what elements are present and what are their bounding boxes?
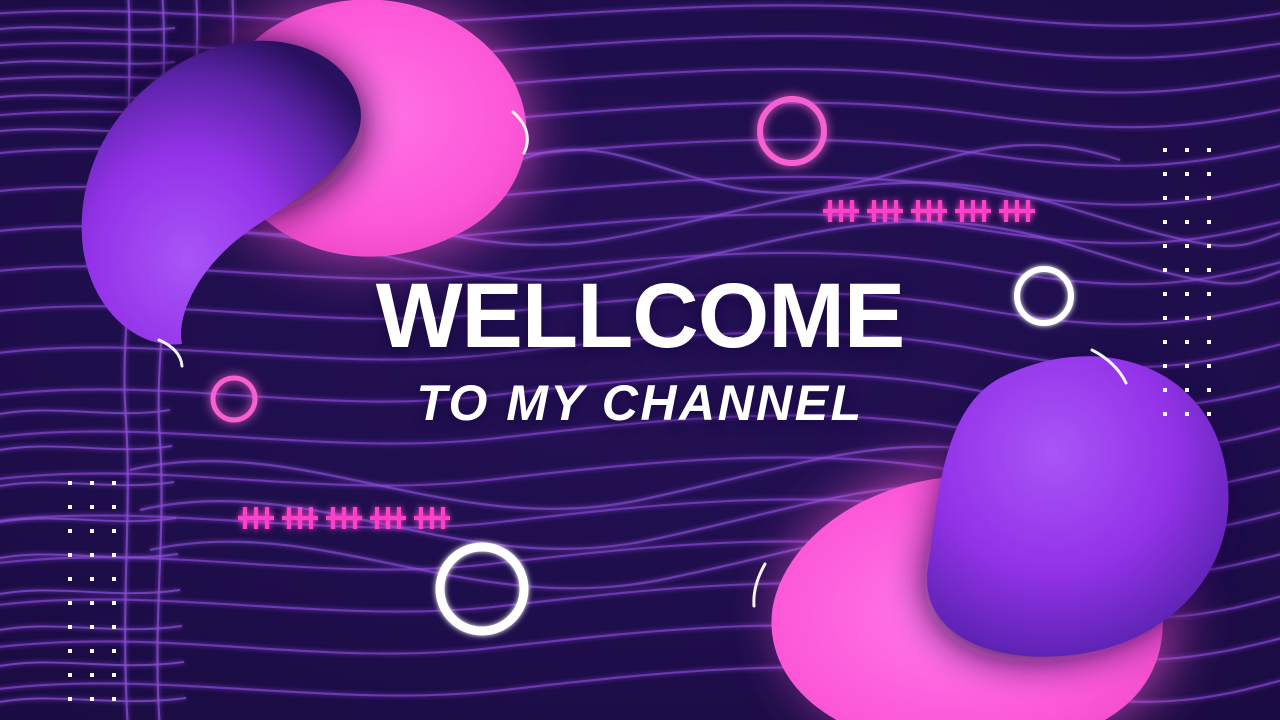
grid-dot — [1207, 220, 1211, 224]
ring-pink-top-right-icon — [760, 99, 824, 163]
grid-dot — [1207, 196, 1211, 200]
grid-dot — [90, 697, 94, 701]
grid-dot — [1163, 292, 1167, 296]
swoosh-bottom-left-icon — [754, 564, 765, 606]
grid-dot — [1163, 268, 1167, 272]
grid-dot — [1207, 388, 1211, 392]
grid-dot — [112, 697, 116, 701]
swoosh-right-upper-icon — [1092, 350, 1126, 383]
poster-canvas: WELLCOME TO MY CHANNEL — [0, 0, 1280, 720]
grid-dot — [1207, 340, 1211, 344]
grid-dot — [112, 625, 116, 629]
grid-dot — [112, 649, 116, 653]
grid-dot — [1163, 172, 1167, 176]
grid-dot — [112, 673, 116, 677]
grid-dot — [68, 673, 72, 677]
grid-dot — [112, 505, 116, 509]
dot-grid-right — [1163, 148, 1211, 416]
grid-dot — [1163, 244, 1167, 248]
grid-dot — [112, 577, 116, 581]
grid-dot — [1207, 292, 1211, 296]
grid-dot — [90, 505, 94, 509]
grid-dot — [1185, 268, 1189, 272]
grid-dot — [1163, 220, 1167, 224]
tally-row-bottom — [238, 507, 450, 529]
grid-dot — [112, 529, 116, 533]
grid-dot — [1163, 196, 1167, 200]
grid-dot — [1163, 148, 1167, 152]
swoosh-left-blob-icon — [159, 340, 182, 366]
grid-dot — [1185, 196, 1189, 200]
grid-dot — [1185, 292, 1189, 296]
grid-dot — [112, 481, 116, 485]
grid-dot — [1185, 244, 1189, 248]
grid-dot — [1163, 364, 1167, 368]
grid-dot — [1185, 172, 1189, 176]
grid-dot — [90, 577, 94, 581]
grid-dot — [112, 553, 116, 557]
grid-dot — [90, 553, 94, 557]
grid-dot — [68, 601, 72, 605]
grid-dot — [1163, 388, 1167, 392]
grid-dot — [1207, 412, 1211, 416]
dot-grid-left — [68, 481, 116, 701]
swoosh-top-center-icon — [513, 112, 527, 153]
grid-dot — [68, 529, 72, 533]
grid-dot — [1207, 172, 1211, 176]
grid-dot — [68, 577, 72, 581]
grid-dot — [90, 625, 94, 629]
tally-row-top — [823, 200, 1035, 222]
grid-dot — [1207, 364, 1211, 368]
grid-dot — [90, 481, 94, 485]
grid-dot — [1207, 244, 1211, 248]
grid-dot — [1207, 316, 1211, 320]
grid-dot — [1163, 412, 1167, 416]
grid-dot — [68, 481, 72, 485]
swoosh-icons — [159, 112, 1126, 606]
ring-pink-left-icon — [213, 378, 255, 420]
grid-dot — [1163, 316, 1167, 320]
grid-dot — [68, 625, 72, 629]
grid-dot — [1207, 148, 1211, 152]
grid-dot — [1185, 412, 1189, 416]
grid-dot — [1207, 268, 1211, 272]
grid-dot — [1185, 220, 1189, 224]
grid-dot — [112, 601, 116, 605]
grid-dot — [68, 697, 72, 701]
grid-dot — [1163, 340, 1167, 344]
grid-dot — [1185, 148, 1189, 152]
grid-dot — [90, 649, 94, 653]
grid-dot — [68, 505, 72, 509]
grid-dot — [90, 529, 94, 533]
decoration-layer — [0, 0, 1280, 720]
grid-dot — [68, 649, 72, 653]
grid-dot — [1185, 364, 1189, 368]
ring-white-bottom-icon — [440, 547, 524, 631]
grid-dot — [90, 673, 94, 677]
grid-dot — [90, 601, 94, 605]
grid-dot — [68, 553, 72, 557]
grid-dot — [1185, 340, 1189, 344]
ring-white-right-icon — [1017, 269, 1071, 323]
grid-dot — [1185, 388, 1189, 392]
grid-dot — [1185, 316, 1189, 320]
